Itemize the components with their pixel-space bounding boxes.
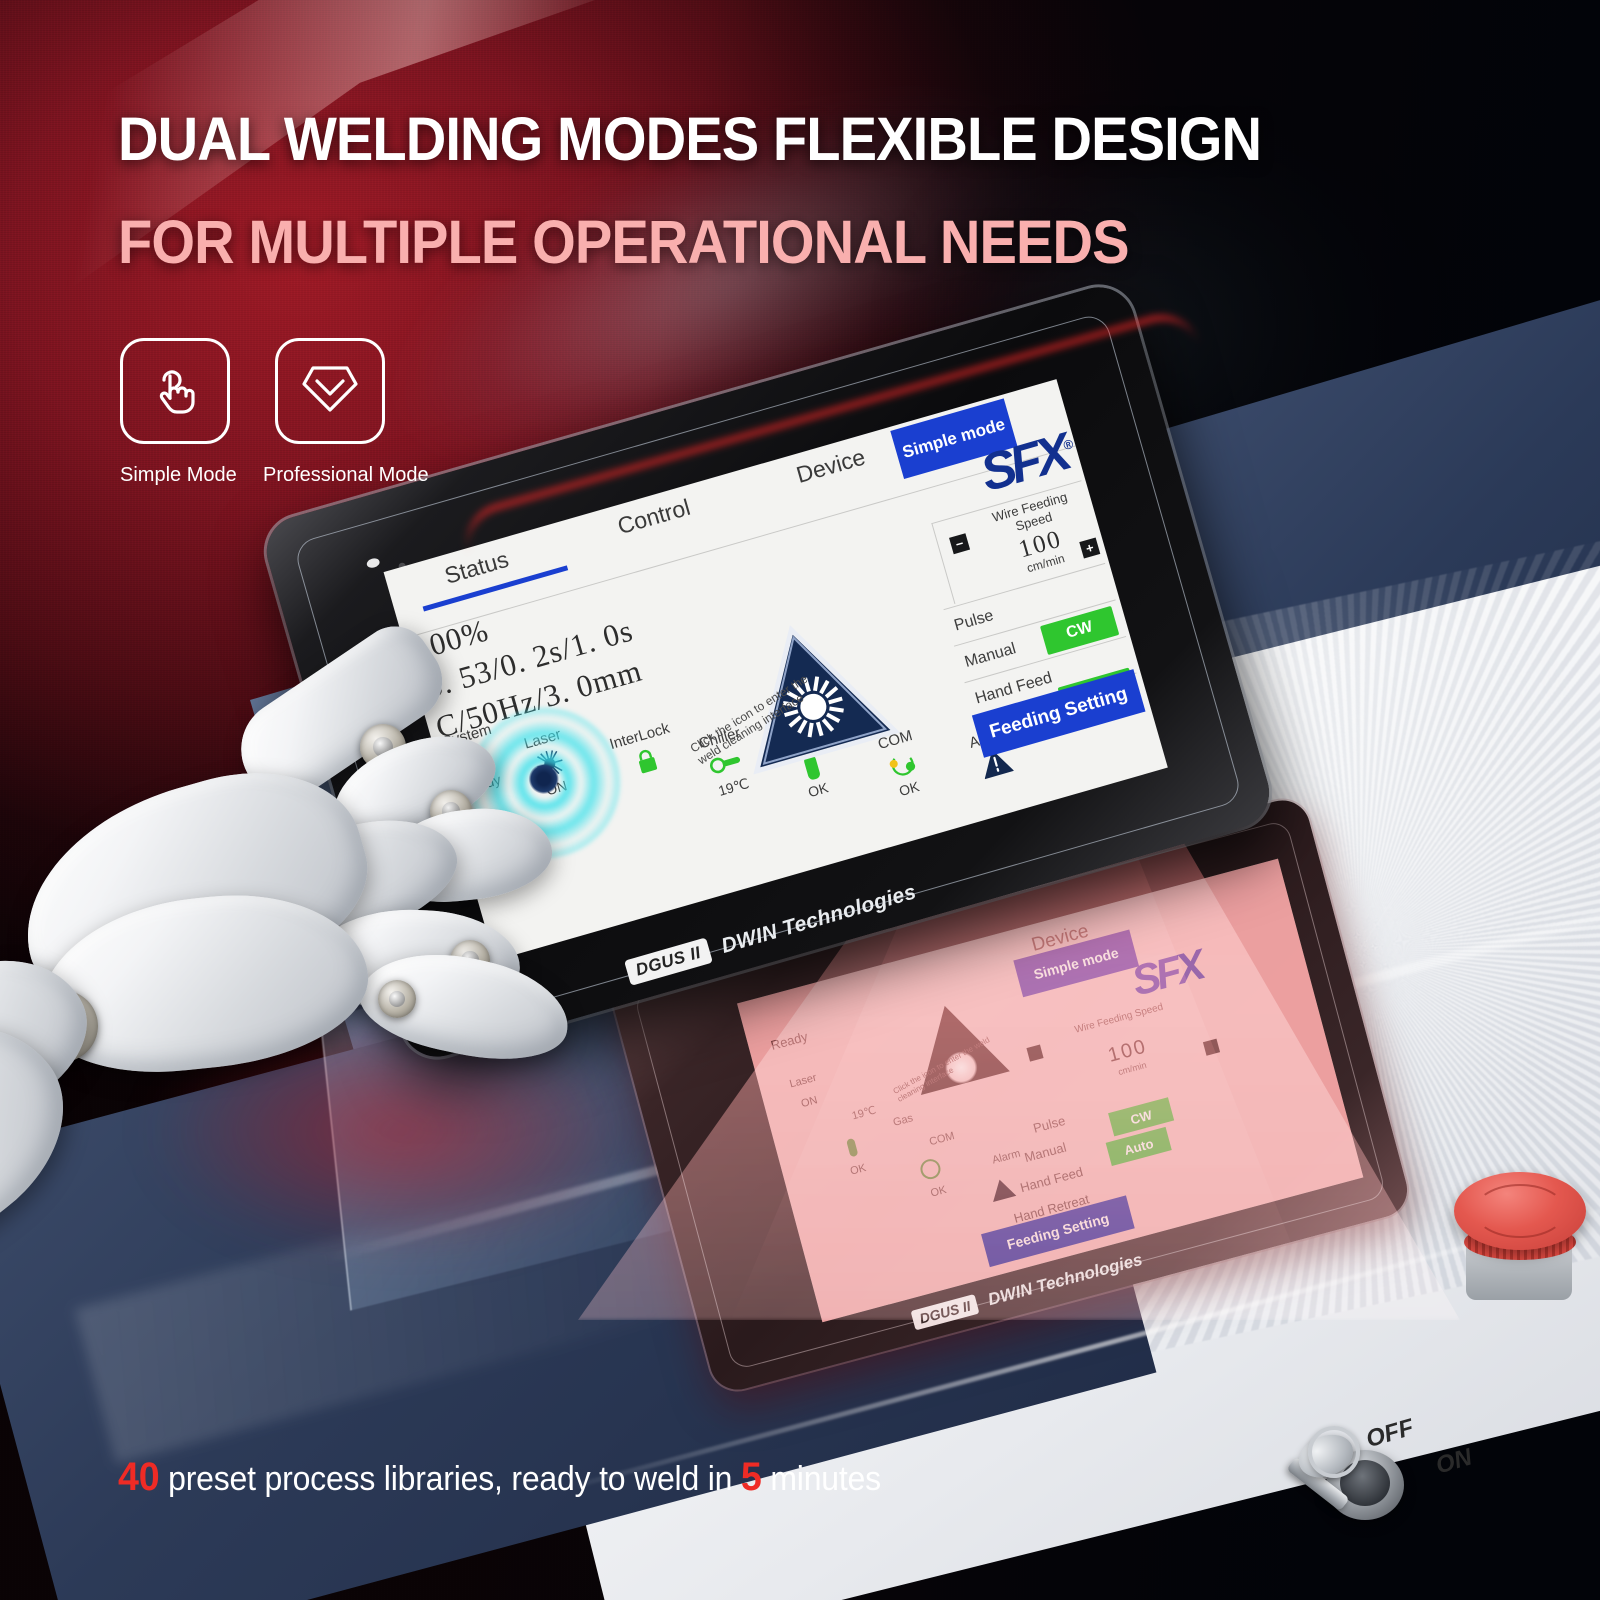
- mode-icon-group: Simple Mode Professional Mode: [120, 338, 385, 487]
- robot-joint-ring: [378, 980, 416, 1018]
- headline-line-1: DUAL WELDING MODES FLEXIBLE DESIGN: [118, 104, 1261, 174]
- robot-hand: [0, 640, 690, 1440]
- mode-simple-label: Simple Mode: [120, 464, 230, 487]
- key-switch-on-label: ON: [1433, 1444, 1475, 1481]
- mode-professional-box[interactable]: [275, 338, 385, 444]
- footer-text-2: minutes: [762, 1460, 881, 1498]
- key-switch[interactable]: OFF ON: [1280, 1380, 1490, 1570]
- mode-professional-label: Professional Mode: [263, 464, 385, 487]
- headline-line-2: FOR MULTIPLE OPERATIONAL NEEDS: [118, 207, 1129, 277]
- poster-canvas: Device Ready Laser ON 19℃ OK Gas COM OK …: [0, 0, 1600, 1600]
- footer-text-1: preset process libraries, ready to weld …: [159, 1460, 740, 1498]
- estop-twist-arrows-icon: [1474, 1184, 1566, 1238]
- footer-tagline: 40 preset process libraries, ready to we…: [118, 1455, 881, 1500]
- mode-simple-box[interactable]: [120, 338, 230, 444]
- touch-hand-icon: [146, 360, 204, 423]
- footer-number-5: 5: [741, 1455, 762, 1499]
- mode-simple[interactable]: Simple Mode: [120, 338, 230, 487]
- footer-number-40: 40: [118, 1455, 159, 1499]
- diamond-check-icon: [300, 360, 360, 423]
- emergency-stop-button[interactable]: [1448, 1168, 1598, 1308]
- mode-professional[interactable]: Professional Mode: [275, 338, 385, 487]
- key-switch-off-label: OFF: [1363, 1414, 1417, 1454]
